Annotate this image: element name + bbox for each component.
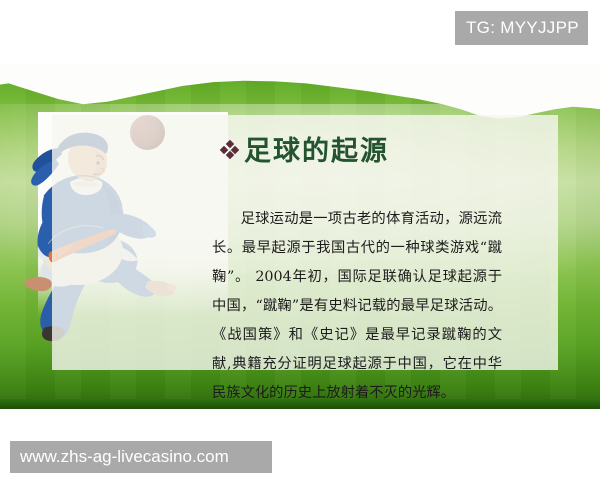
page-title: 足球的起源 (52, 129, 558, 168)
slide-canvas: 足球的起源 足球运动是一项古老的体育活动，源远流长。最早起源于我国古代的一种球类… (0, 64, 600, 409)
tg-handle-badge: TG: MYYJJPP (455, 11, 588, 45)
page-title-text: 足球的起源 (244, 136, 389, 167)
site-watermark: www.zhs-ag-livecasino.com (10, 441, 272, 473)
diamond-cluster-icon (221, 141, 238, 158)
body-paragraph: 足球运动是一项古老的体育活动，源远流长。最早起源于我国古代的一种球类游戏“蹴鞠”… (212, 205, 502, 408)
